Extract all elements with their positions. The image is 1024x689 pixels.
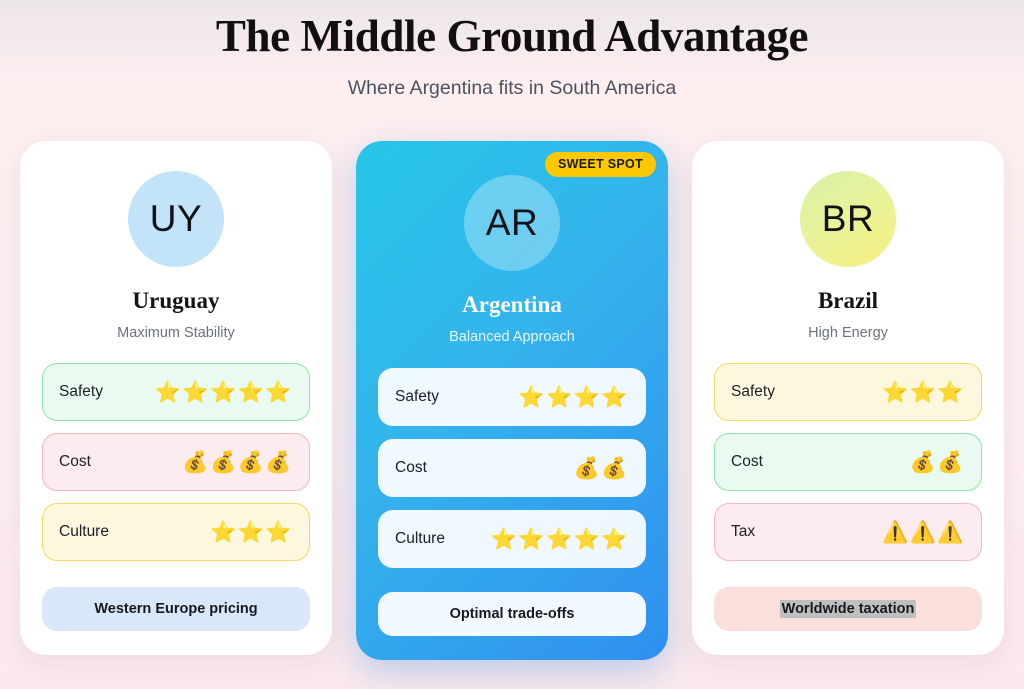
metric-list: Safety⭐⭐⭐Cost💰💰Tax⚠️⚠️⚠️ <box>714 363 982 561</box>
metric-label: Culture <box>395 530 445 548</box>
country-tagline: Maximum Stability <box>117 325 235 341</box>
country-card-argentina[interactable]: SWEET SPOTARArgentinaBalanced ApproachSa… <box>356 141 668 660</box>
metric-label: Cost <box>731 453 763 471</box>
card-footer-note: Worldwide taxation <box>714 587 982 631</box>
card-footer-note-text: Worldwide taxation <box>780 600 917 618</box>
money-bag-icon-group: 💰💰💰💰 <box>182 452 293 473</box>
metric-label: Safety <box>395 388 439 406</box>
page-subtitle: Where Argentina fits in South America <box>0 77 1024 100</box>
money-bag-icon-group: 💰💰 <box>910 452 965 473</box>
card-footer-note: Optimal trade-offs <box>378 592 646 636</box>
metric-label: Tax <box>731 523 755 541</box>
metric-row-safety: Safety⭐⭐⭐ <box>714 363 982 421</box>
country-card-brazil[interactable]: BRBrazilHigh EnergySafety⭐⭐⭐Cost💰💰Tax⚠️⚠… <box>692 141 1004 655</box>
metric-list: Safety⭐⭐⭐⭐⭐Cost💰💰💰💰Culture⭐⭐⭐ <box>42 363 310 561</box>
country-avatar-brazil: BR <box>800 171 896 267</box>
money-bag-icon-group: 💰💰 <box>574 458 629 479</box>
metric-row-cost: Cost💰💰 <box>378 439 646 497</box>
country-tagline: Balanced Approach <box>449 329 575 345</box>
metric-label: Cost <box>59 453 91 471</box>
country-tagline: High Energy <box>808 325 888 341</box>
country-avatar-uruguay: UY <box>128 171 224 267</box>
metric-row-tax: Tax⚠️⚠️⚠️ <box>714 503 982 561</box>
country-card-uruguay[interactable]: UYUruguayMaximum StabilitySafety⭐⭐⭐⭐⭐Cos… <box>20 141 332 655</box>
star-icon-group: ⭐⭐⭐⭐ <box>518 387 629 408</box>
star-icon-group: ⭐⭐⭐ <box>882 382 965 403</box>
star-icon-group: ⭐⭐⭐⭐⭐ <box>155 382 293 403</box>
metric-label: Cost <box>395 459 427 477</box>
metric-label: Culture <box>59 523 109 541</box>
country-avatar-argentina: AR <box>464 175 560 271</box>
metric-row-cost: Cost💰💰💰💰 <box>42 433 310 491</box>
metric-row-safety: Safety⭐⭐⭐⭐ <box>378 368 646 426</box>
metric-label: Safety <box>731 383 775 401</box>
star-icon-group: ⭐⭐⭐⭐⭐ <box>491 529 629 550</box>
metric-row-cost: Cost💰💰 <box>714 433 982 491</box>
country-name: Uruguay <box>133 288 220 314</box>
comparison-cards: UYUruguayMaximum StabilitySafety⭐⭐⭐⭐⭐Cos… <box>0 141 1024 660</box>
metric-list: Safety⭐⭐⭐⭐Cost💰💰Culture⭐⭐⭐⭐⭐ <box>378 368 646 568</box>
warning-icon-group: ⚠️⚠️⚠️ <box>882 522 965 543</box>
star-icon-group: ⭐⭐⭐ <box>210 522 293 543</box>
metric-row-safety: Safety⭐⭐⭐⭐⭐ <box>42 363 310 421</box>
metric-row-culture: Culture⭐⭐⭐⭐⭐ <box>378 510 646 568</box>
country-name: Brazil <box>818 288 878 314</box>
page-title: The Middle Ground Advantage <box>0 10 1024 63</box>
metric-row-culture: Culture⭐⭐⭐ <box>42 503 310 561</box>
page-header: The Middle Ground Advantage Where Argent… <box>0 0 1024 100</box>
card-footer-note: Western Europe pricing <box>42 587 310 631</box>
metric-label: Safety <box>59 383 103 401</box>
sweet-spot-badge: SWEET SPOT <box>545 152 656 177</box>
country-name: Argentina <box>462 292 562 318</box>
